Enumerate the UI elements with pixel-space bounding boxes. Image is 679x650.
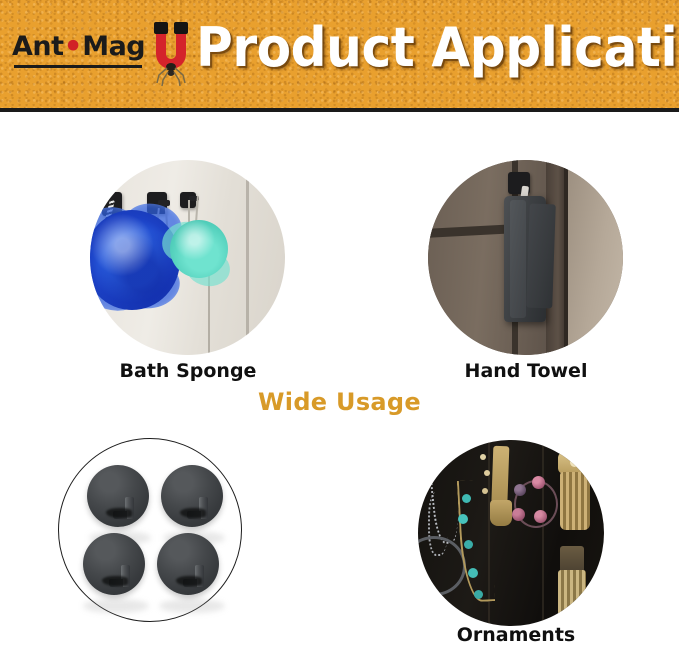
hand-towel-photo (428, 160, 623, 355)
hook-prong (121, 565, 130, 587)
adhesive-hook (87, 465, 149, 527)
ornaments-label: Ornaments (416, 624, 616, 646)
beaded-strands (558, 570, 586, 622)
horseshoe-magnet-ant-logo-icon (148, 16, 194, 92)
gold-tassel-necklace (490, 500, 512, 526)
gold-bead (570, 458, 579, 467)
brand-name-left: Ant (12, 31, 64, 62)
banner-divider (0, 108, 679, 112)
hook-prong (125, 497, 134, 519)
turquoise-bead (474, 590, 483, 599)
turquoise-bead (464, 540, 473, 549)
page-title: Product Applications (196, 17, 644, 79)
product-hooks-photo (58, 438, 242, 622)
mint-bath-sponge (170, 220, 228, 278)
pearl-bead (484, 470, 490, 476)
adhesive-hook (157, 533, 219, 595)
brand-logo: Ant•Mag (12, 32, 144, 78)
turquoise-bead (468, 568, 478, 578)
brand-logo-underline (14, 65, 142, 68)
hook-prong (199, 497, 208, 519)
header-banner: Ant•Mag Product Applications (0, 0, 679, 108)
wide-usage-caption: Wide Usage (0, 388, 679, 416)
hook-prong (195, 565, 204, 587)
pink-bead (532, 476, 545, 489)
towel-fold (526, 204, 556, 309)
wall-seam (246, 160, 249, 355)
purple-bead (514, 484, 526, 496)
wall-surface (568, 160, 623, 355)
turquoise-bead (458, 514, 468, 524)
ornaments-photo (418, 440, 604, 626)
hook-shadow (83, 599, 149, 613)
pearl-bead (482, 488, 488, 494)
wood-grain-line (542, 440, 544, 626)
bath-sponge-label: Bath Sponge (88, 360, 288, 382)
adhesive-hook (83, 533, 145, 595)
hook-shadow (159, 599, 225, 613)
pearl-bead (480, 454, 486, 460)
towel-fold (510, 200, 526, 318)
brand-logo-text: Ant•Mag (12, 32, 144, 63)
adhesive-hook (161, 465, 223, 527)
hand-towel-label: Hand Towel (426, 360, 626, 382)
turquoise-bead (462, 494, 471, 503)
pink-bead (512, 508, 525, 521)
bath-sponge-photo (90, 160, 285, 355)
pink-bead (534, 510, 547, 523)
brand-name-right: Mag (82, 31, 145, 62)
gold-fringe (560, 472, 590, 530)
brand-dot-icon: • (64, 30, 83, 65)
